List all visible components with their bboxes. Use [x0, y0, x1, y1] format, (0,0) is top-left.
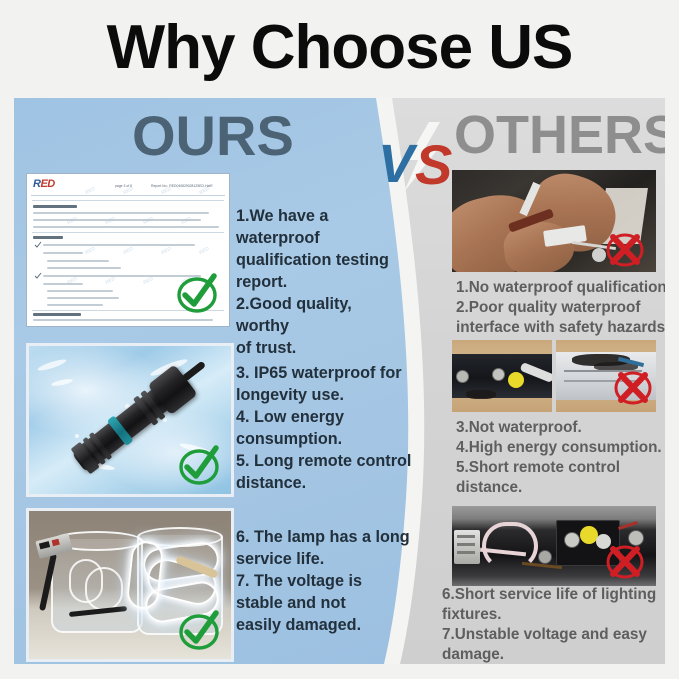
ours-text-block-2: 3. IP65 waterproof for longevity use. 4.… [236, 362, 412, 494]
ours-image-test-report: RED RED RED RED RED RED RED RED RED RED … [26, 173, 230, 327]
document-header: RED page 3 of 8 Report No.: RED040829028… [31, 177, 225, 196]
document-tick-icon-2 [34, 272, 42, 280]
vs-badge: V S [377, 120, 459, 194]
vs-letter-v: V [378, 134, 418, 194]
terminal-block [454, 530, 480, 564]
red-logo: RED [33, 178, 55, 190]
others-column-title: OTHERS [454, 108, 665, 162]
others-image-hand-wiring [452, 170, 656, 272]
comparison-board: OURS OTHERS V S RED RED RED RED RED RED … [14, 98, 665, 664]
document-page-label: page 3 of 8 [115, 184, 132, 188]
others-image-damaged-panel-left [452, 340, 552, 412]
infographic-page: Why Choose US OURS OTHERS V S RED RED RE… [0, 0, 679, 679]
page-header: Why Choose US [0, 0, 679, 96]
ours-image-waterproof-connector [26, 343, 234, 497]
ours-column-title: OURS [132, 108, 294, 164]
others-image-failed-fixture [452, 506, 656, 586]
vs-letter-s: S [415, 133, 452, 194]
red-cross-icon [608, 362, 656, 412]
others-text-block-3: 6.Short service life of lighting fixture… [442, 585, 665, 664]
green-check-icon [173, 270, 221, 318]
page-title: Why Choose US [107, 17, 573, 79]
ours-text-block-1: 1.We have a waterproof qualification tes… [236, 205, 408, 359]
document-tick-icon-1 [34, 241, 42, 249]
others-image-damaged-panel-right [556, 340, 656, 412]
red-cross-icon [600, 536, 650, 586]
others-text-block-2: 3.Not waterproof. 4.High energy consumpt… [456, 418, 665, 498]
others-text-block-1: 1.No waterproof qualification 2.Poor qua… [456, 278, 665, 338]
document-report-number: Report No.: RED0408290281Z5ED-HaiR [151, 184, 213, 188]
red-cross-icon [600, 224, 650, 272]
ours-text-block-3: 6. The lamp has a long service life. 7. … [236, 526, 414, 636]
green-check-icon [175, 442, 223, 490]
ours-image-led-strips-in-water [26, 508, 234, 662]
green-check-icon [175, 607, 223, 655]
